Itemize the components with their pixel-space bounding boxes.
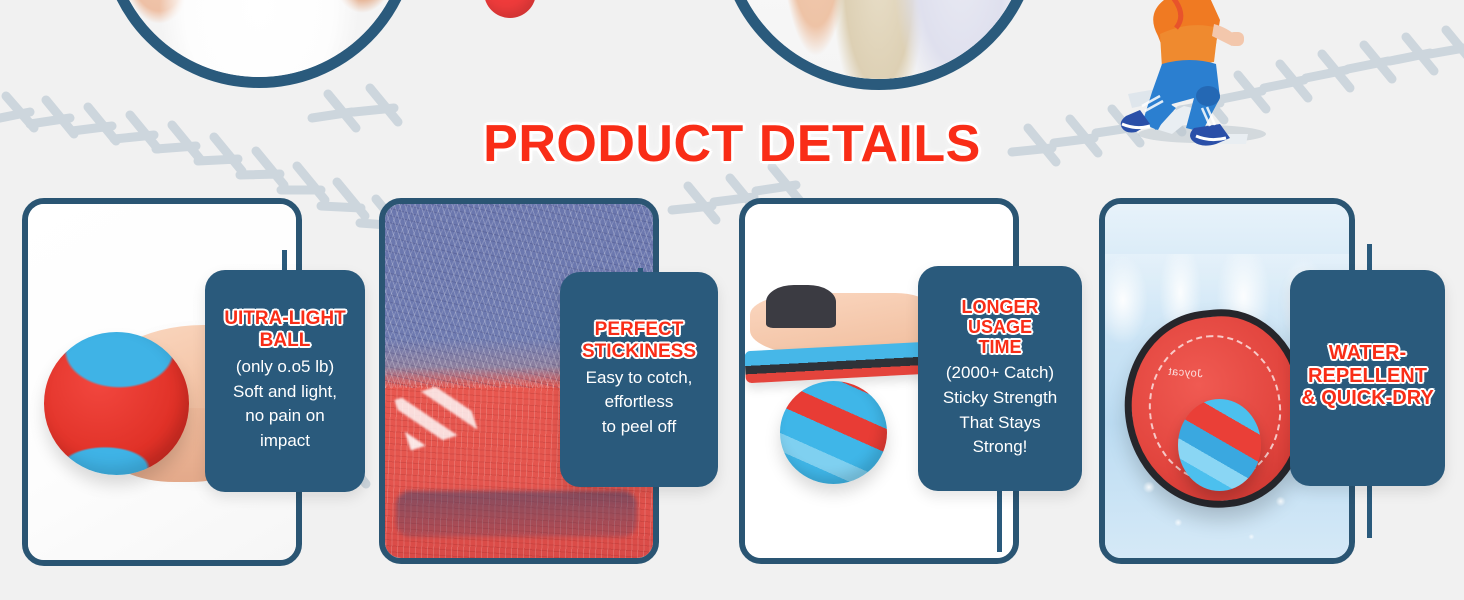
infographic-stage: PRODUCT DETAILS UITRA-LIGHT BALL (only o… [0,0,1464,600]
page-title: PRODUCT DETAILS [0,114,1464,174]
callout-heading-1: UITRA-LIGHT BALL [224,308,345,351]
callout-body-2: Easy to cotch, effortless to peel off [586,366,693,440]
circle-photo-frame-2 [718,0,1040,90]
callout-stem-4-bottom [1367,482,1372,538]
callout-water-repellent[interactable]: WATER- REPELLENT & QUICK-DRY [1290,270,1445,486]
callout-heading-4: WATER- REPELLENT & QUICK-DRY [1301,342,1434,409]
brand-watermark: Joycat [1168,366,1204,380]
callout-body-3: (2000+ Catch) Sticky Strength That Stays… [943,361,1057,460]
mini-ball-graphic [484,0,536,18]
callout-body-1: (only o.o5 lb) Soft and light, no pain o… [233,355,337,454]
callout-longer-usage-time[interactable]: LONGER USAGE TIME (2000+ Catch) Sticky S… [918,266,1082,491]
callout-heading-2: PERFECT STICKINESS [582,319,696,362]
callout-perfect-stickiness[interactable]: PERFECT STICKINESS Easy to cotch, effort… [560,272,718,487]
callout-heading-3: LONGER USAGE TIME [928,297,1072,357]
callout-ultra-light-ball[interactable]: UITRA-LIGHT BALL (only o.o5 lb) Soft and… [205,270,365,492]
circle-photo-frame-1 [100,0,418,88]
